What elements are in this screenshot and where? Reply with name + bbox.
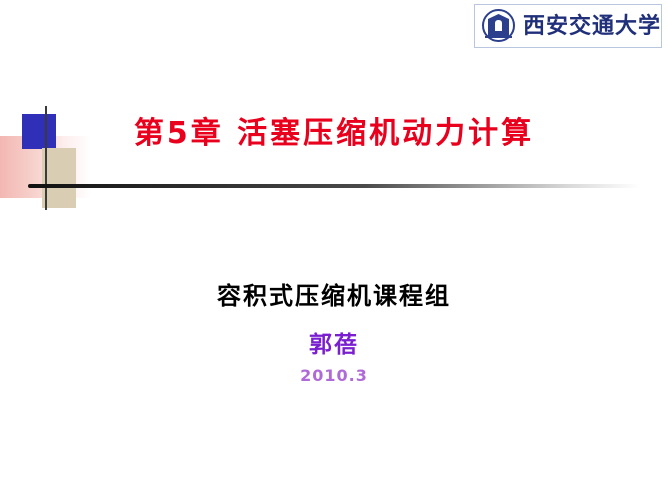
university-logo-box: 西安交通大学 [474,4,662,48]
presentation-date: 2010.3 [0,366,668,385]
slide-title: 第5章 活塞压缩机动力计算 [0,108,668,152]
university-name-text: 西安交通大学 [523,11,659,43]
author-name: 郭蓓 [0,325,668,359]
course-group-label: 容积式压缩机课程组 [0,276,668,311]
xjtu-emblem-icon [482,9,517,44]
presentation-slide: 西安交通大学 第5章 活塞压缩机动力计算 容积式压缩机课程组 郭蓓 2010.3 [0,0,668,502]
emblem-slot [495,20,502,31]
emblem-bar [485,36,512,38]
title-underline-rule [28,184,640,188]
tan-square [42,148,76,208]
